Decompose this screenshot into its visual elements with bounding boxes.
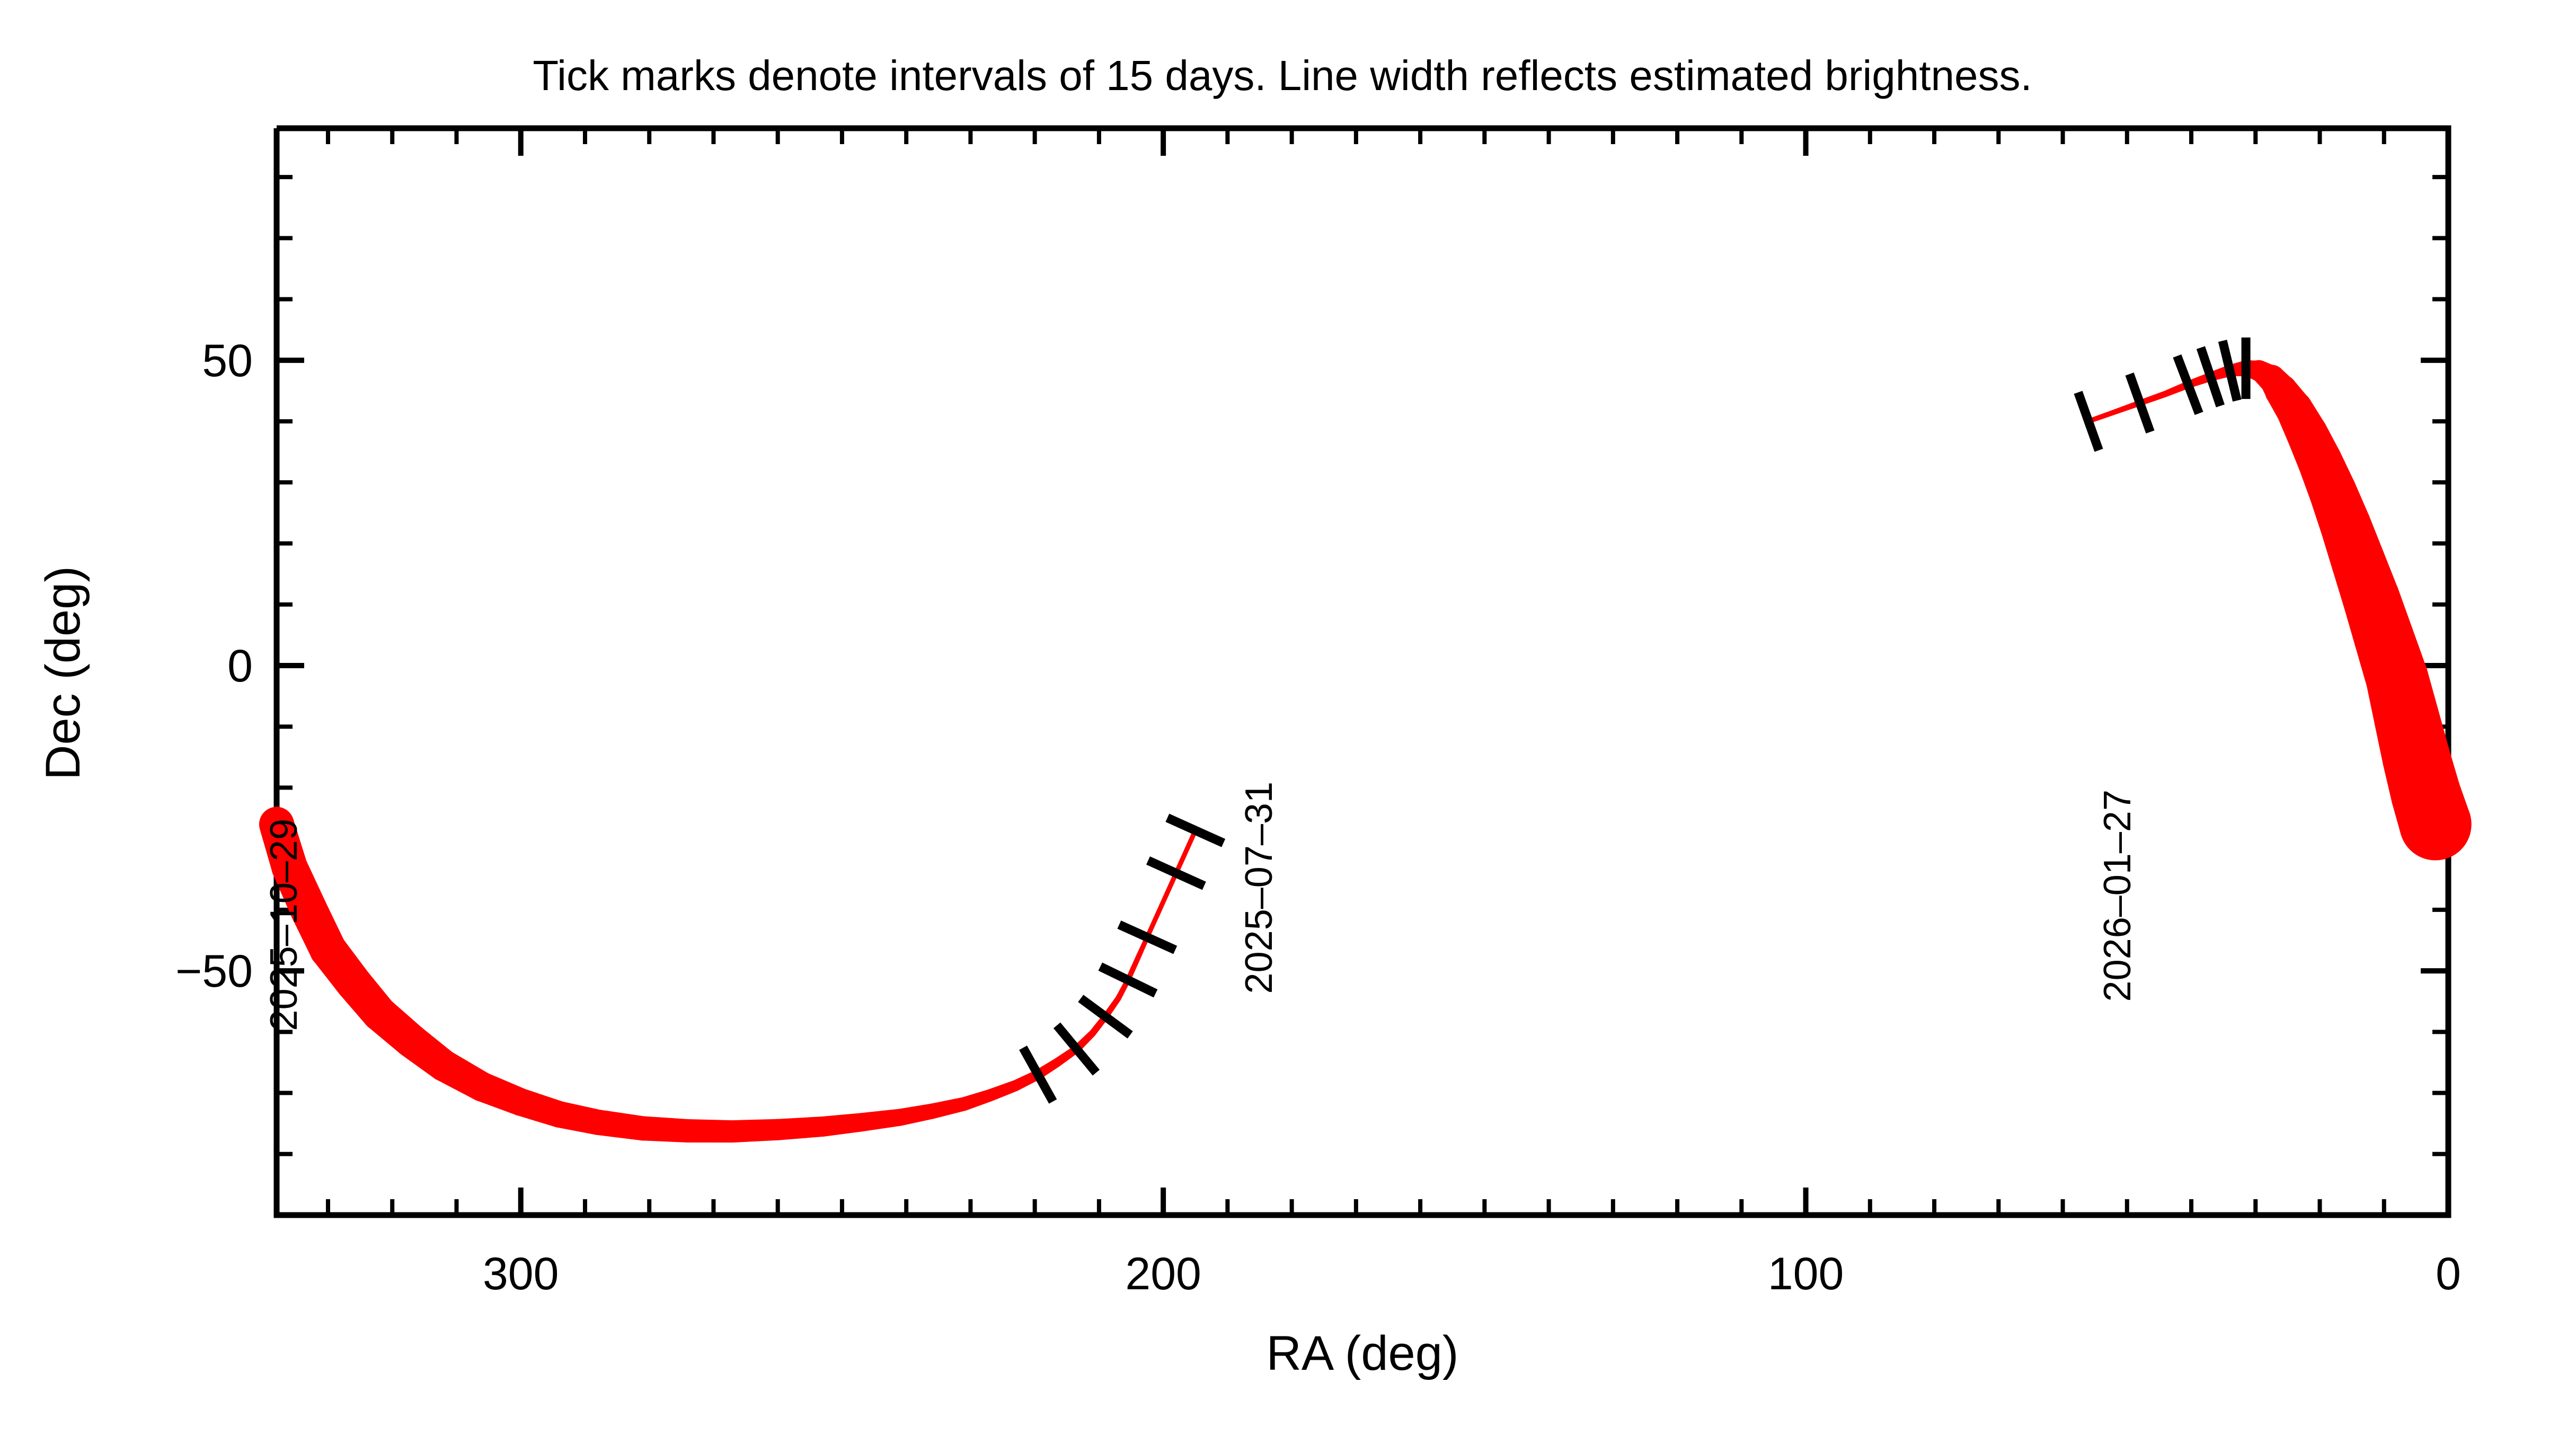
track-marker [631,1116,655,1140]
x-tick-label: 100 [1768,1248,1844,1299]
y-tick-label: −50 [175,946,253,997]
track-marker [767,1119,789,1140]
date-label-mid: 2025–07–31 [1238,782,1280,994]
x-tick-label: 300 [483,1248,559,1299]
track-marker [362,996,397,1031]
track-marker [335,965,371,1001]
chart-background [0,0,2576,1435]
page-title: Tick marks denote intervals of 15 days. … [533,52,2032,99]
sky-track-chart: 3002001000 500−50 Tick marks denote inte… [0,0,2576,1435]
track-marker [924,1104,940,1119]
track-marker [395,1024,429,1058]
chart-page: 3002001000 500−50 Tick marks denote inte… [0,0,2576,1435]
track-marker [546,1101,572,1128]
track-marker [467,1072,497,1102]
y-tick-label: 50 [202,335,253,386]
track-marker [676,1119,700,1142]
track-marker [957,1097,971,1111]
y-axis-title: Dec (deg) [36,566,90,780]
track-marker [2400,789,2472,861]
y-tick-label: 0 [227,641,253,692]
track-marker [722,1120,744,1142]
date-label-end: 2026–01–27 [2096,790,2139,1002]
track-marker [309,931,347,968]
track-marker [428,1050,459,1082]
track-marker [891,1109,908,1126]
date-label-start: 2025–10–29 [263,819,305,1031]
x-axis-title: RA (deg) [1266,1326,1458,1380]
track-marker [585,1110,610,1135]
x-tick-label: 0 [2436,1248,2461,1299]
track-marker [852,1113,871,1131]
track-marker [813,1117,833,1137]
track-marker [507,1088,535,1116]
x-tick-label: 200 [1125,1248,1201,1299]
